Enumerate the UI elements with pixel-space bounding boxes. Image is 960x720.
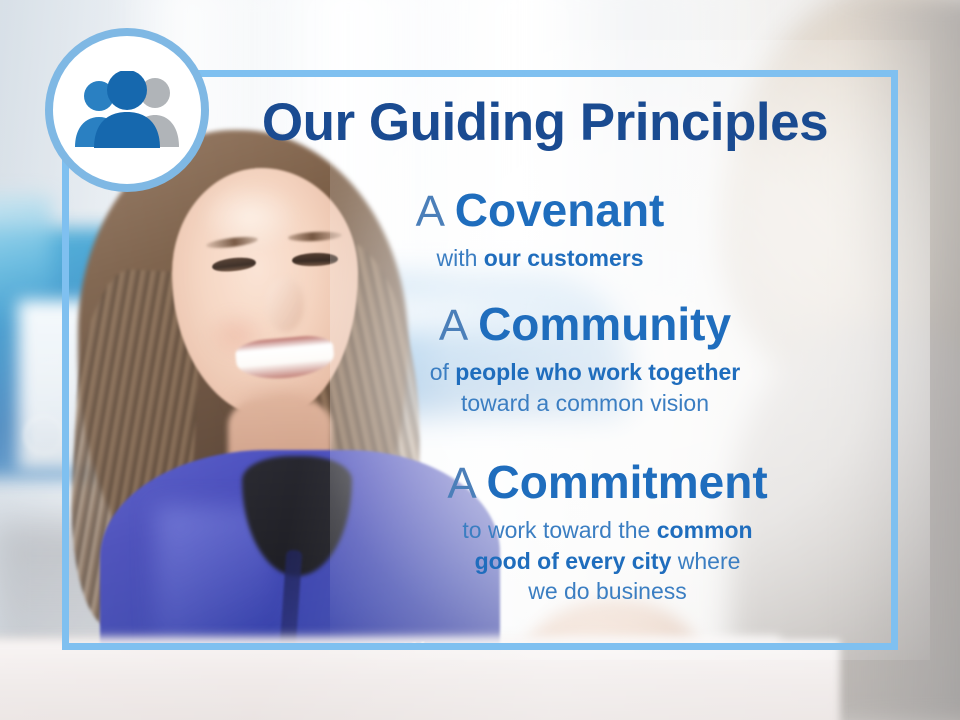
principle-community-lead: A Community bbox=[300, 300, 870, 349]
principle-covenant-lead: A Covenant bbox=[255, 186, 825, 235]
principle-covenant-sub: with our customers bbox=[255, 243, 825, 273]
page-title: Our Guiding Principles bbox=[205, 96, 885, 149]
principle-covenant: A Covenant with our customers bbox=[255, 186, 825, 274]
principle-commitment-lead: A Commitment bbox=[330, 458, 885, 507]
people-group-badge bbox=[45, 28, 209, 192]
guiding-principles-graphic: FLOW FLOW Our Guiding Principles bbox=[0, 0, 960, 720]
principle-community: A Community of people who work togethert… bbox=[300, 300, 870, 418]
people-group-icon bbox=[71, 71, 183, 149]
dealership-poster-top bbox=[0, 196, 52, 316]
principle-commitment: A Commitment to work toward the commongo… bbox=[330, 458, 885, 606]
desk-surface bbox=[0, 640, 840, 720]
principle-community-sub: of people who work togethertoward a comm… bbox=[300, 357, 870, 418]
principle-commitment-sub: to work toward the commongood of every c… bbox=[330, 515, 885, 606]
